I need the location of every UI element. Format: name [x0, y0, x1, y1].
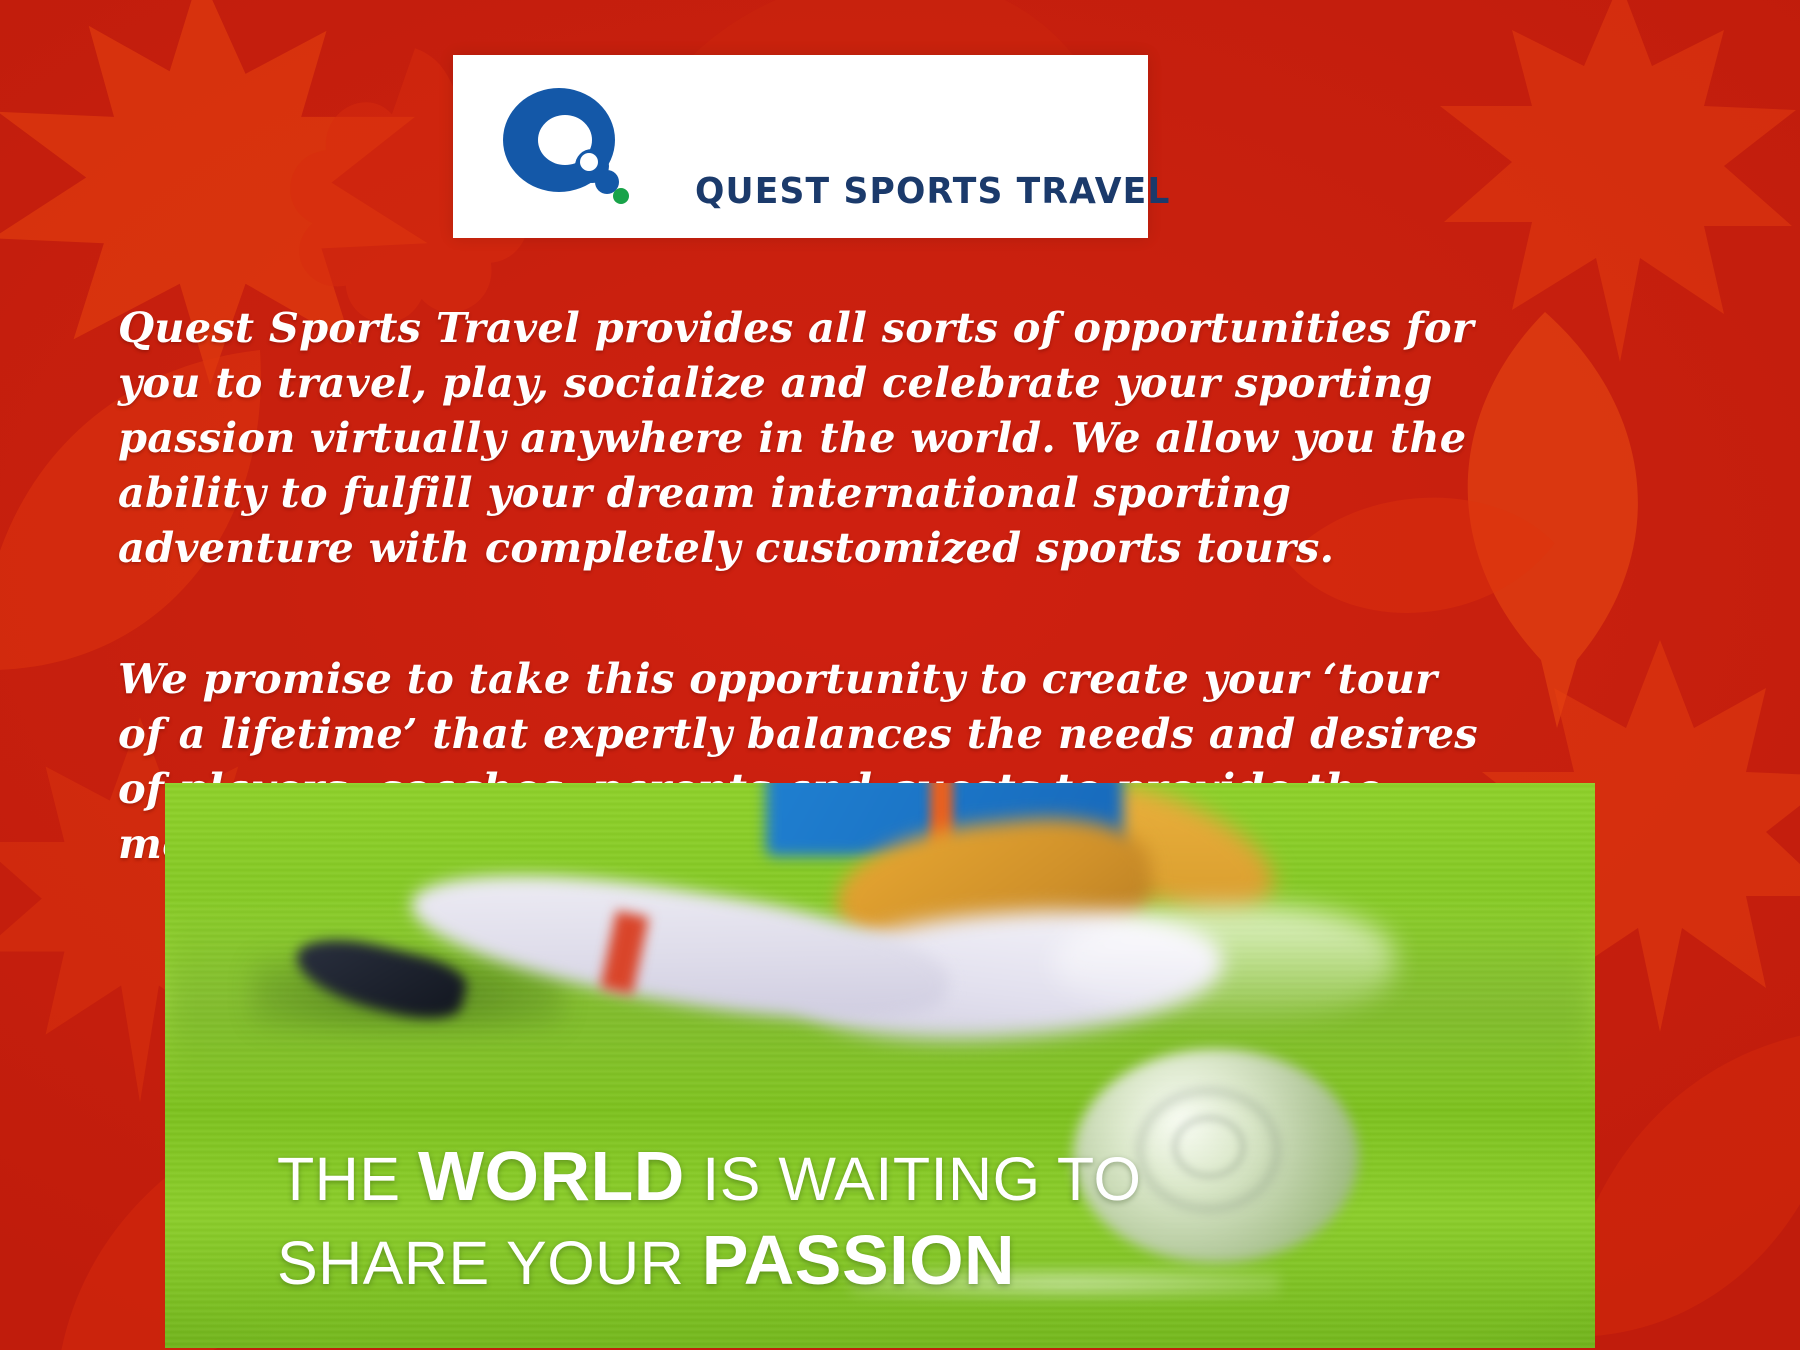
caption-share-your: SHARE YOUR [277, 1229, 702, 1297]
caption-world: WORLD [418, 1137, 685, 1215]
logo-box: QUEST SPORTS TRAVEL [453, 55, 1148, 238]
logo-wordmark: QUEST SPORTS TRAVEL [695, 171, 1171, 212]
quest-q-mark-icon [497, 82, 647, 212]
caption-line-2: SHARE YOUR PASSION [277, 1220, 1141, 1304]
slide-root: QUEST SPORTS TRAVEL Quest Sports Travel … [0, 0, 1800, 1350]
photo-caption: THE WORLD IS WAITING TO SHARE YOUR PASSI… [277, 1136, 1141, 1304]
caption-is-waiting-to: IS WAITING TO [685, 1145, 1142, 1213]
caption-the: THE [277, 1145, 418, 1213]
caption-line-1: THE WORLD IS WAITING TO [277, 1136, 1141, 1220]
caption-passion: PASSION [702, 1221, 1015, 1299]
hero-photo: THE WORLD IS WAITING TO SHARE YOUR PASSI… [165, 783, 1595, 1348]
paragraph-intro: Quest Sports Travel provides all sorts o… [118, 300, 1478, 575]
